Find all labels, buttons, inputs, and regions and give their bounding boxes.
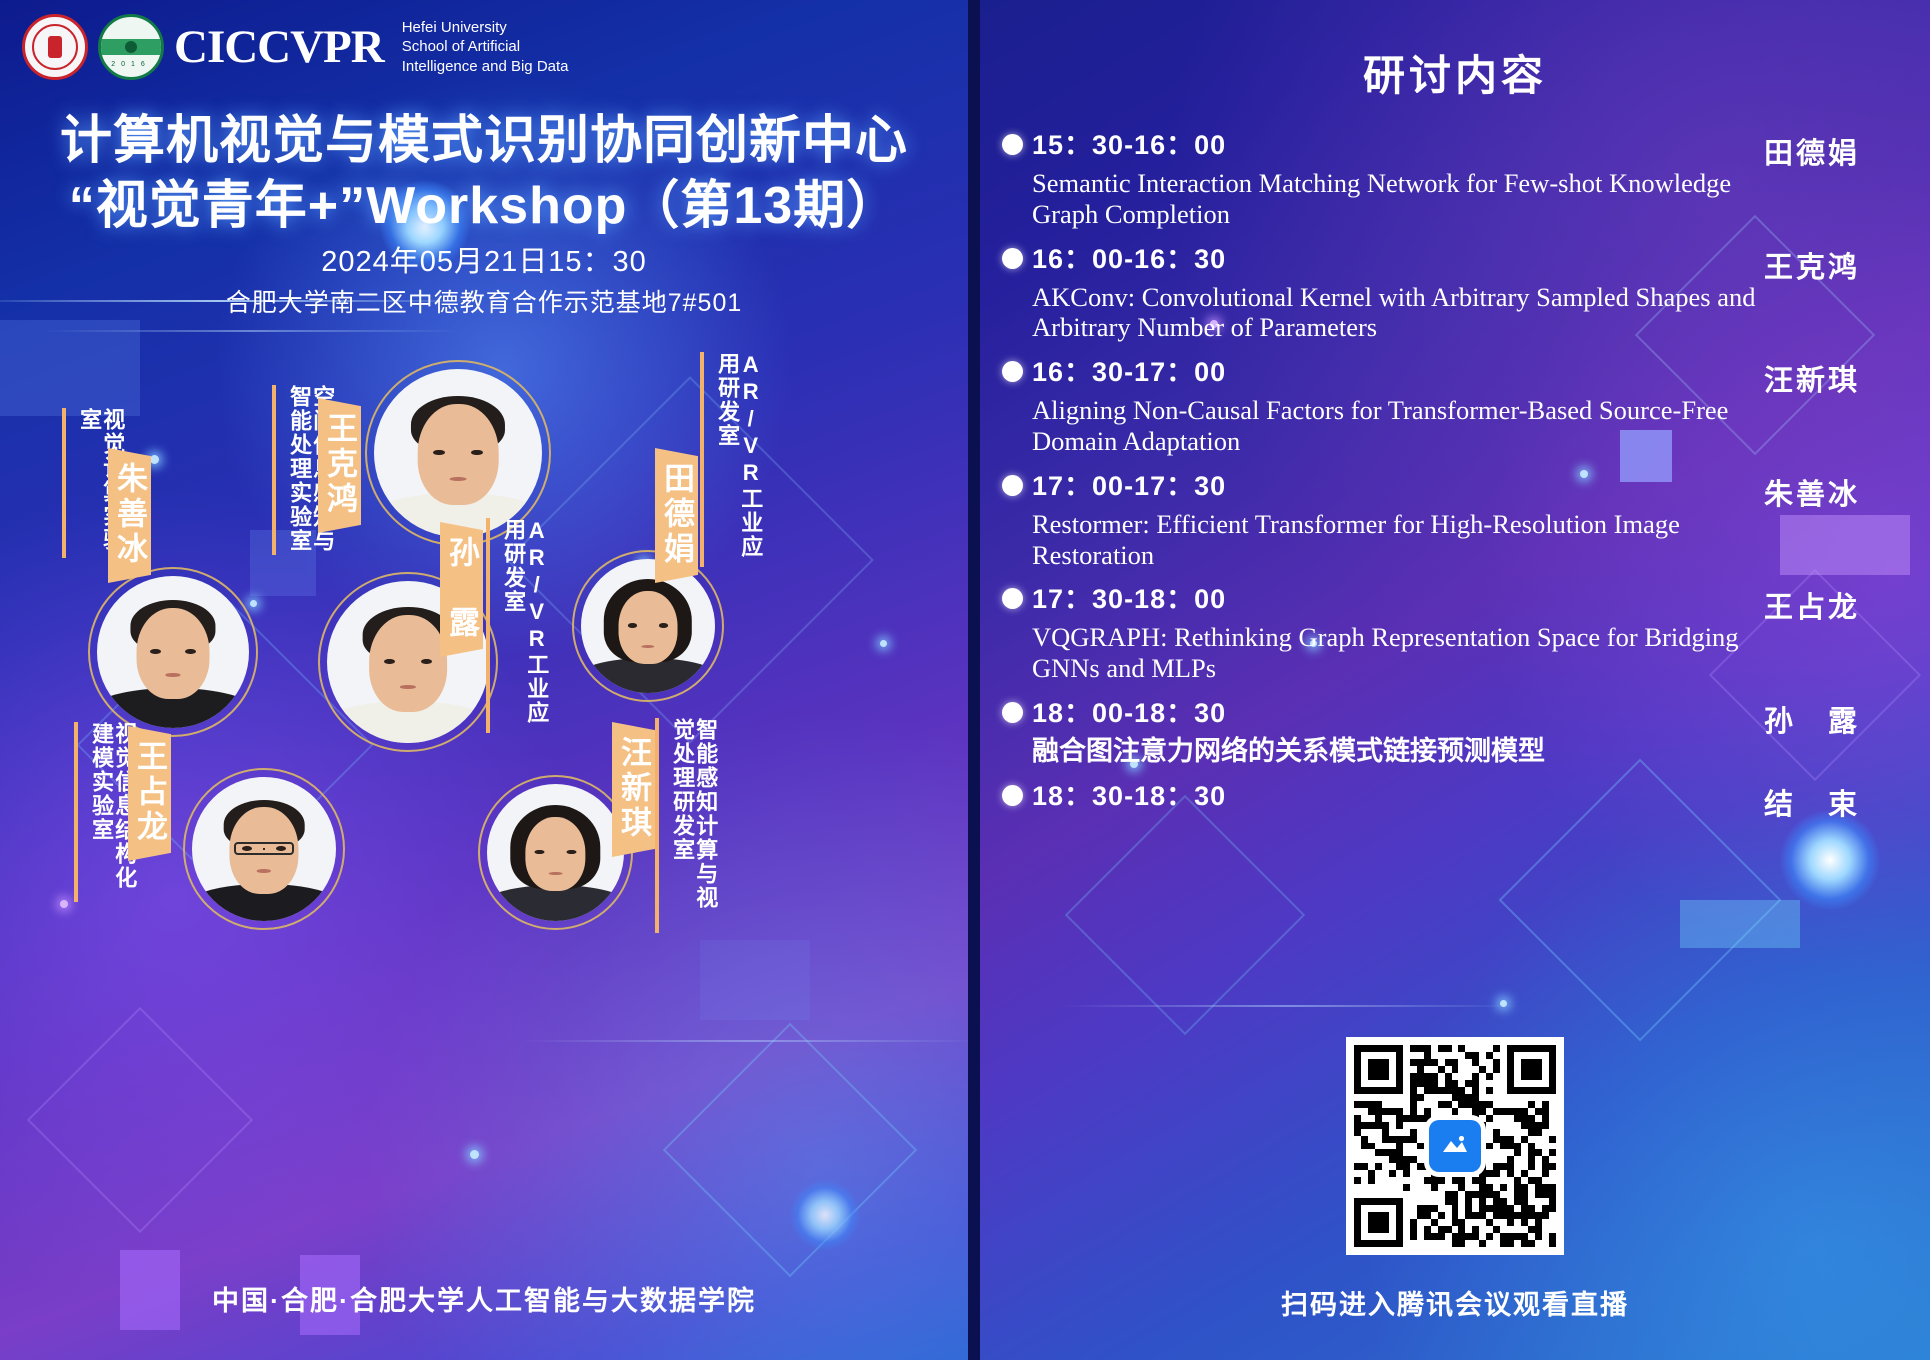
timeline-bullet-icon	[1002, 134, 1023, 155]
deco-block	[1680, 900, 1800, 948]
avatar	[88, 567, 258, 737]
schedule-talk-title: 融合图注意力网络的关系模式链接预测模型	[1032, 736, 1764, 767]
person-card	[183, 768, 345, 930]
schedule-speaker: 王占龙	[1764, 582, 1914, 626]
timeline-bullet-icon	[1002, 588, 1023, 609]
schedule-entry: 16：30-17：00Aligning Non-Causal Factors f…	[1032, 355, 1764, 469]
brand-sub-line1: Hefei University	[402, 18, 569, 37]
schedule-time: 17：30-18：00	[1032, 582, 1764, 617]
schedule-time: 17：00-17：30	[1032, 469, 1764, 504]
schedule-row: 18：00-18：30融合图注意力网络的关系模式链接预测模型孙 露	[996, 696, 1914, 779]
person-name-badge: 王克鸿	[318, 398, 361, 533]
timeline-bullet-icon	[1002, 248, 1023, 269]
hefei-university-seal-icon	[22, 14, 88, 80]
left-panel: 2016 CICCVPR Hefei University School of …	[0, 0, 968, 1360]
deco-dot	[60, 900, 68, 908]
deco-diamond	[27, 1007, 253, 1233]
schedule-speaker: 汪新琪	[1764, 355, 1914, 399]
right-panel: 研讨内容 15：30-16：00Semantic Interaction Mat…	[980, 0, 1930, 1360]
timeline-bullet-icon	[1002, 361, 1023, 382]
person-lab-label: AR/VR工业应用研发室	[700, 352, 762, 567]
brand-sub-line3: Intelligence and Big Data	[402, 57, 569, 76]
schedule-speaker: 王克鸿	[1764, 242, 1914, 286]
brand-header: 2016 CICCVPR Hefei University School of …	[22, 14, 569, 80]
schedule-talk-title: Semantic Interaction Matching Network fo…	[1032, 168, 1764, 229]
person-card	[478, 775, 633, 930]
avatar	[572, 550, 724, 702]
tencent-meeting-icon	[1429, 1120, 1481, 1172]
deco-dot	[880, 640, 887, 647]
qr-caption: 扫码进入腾讯会议观看直播	[980, 1283, 1930, 1322]
schedule-row: 15：30-16：00Semantic Interaction Matching…	[996, 128, 1914, 242]
left-footer: 中国·合肥·合肥大学人工智能与大数据学院	[0, 1279, 968, 1318]
schedule-entry: 18：00-18：30融合图注意力网络的关系模式链接预测模型	[1032, 696, 1764, 779]
brand-acronym: CICCVPR	[174, 24, 384, 71]
schedule-entry: 17：30-18：00VQGRAPH: Rethinking Graph Rep…	[1032, 582, 1764, 696]
timeline-bullet-icon	[1002, 475, 1023, 496]
timeline-bullet-icon	[1002, 785, 1023, 806]
schedule-row: 17：00-17：30Restormer: Efficient Transfor…	[996, 469, 1914, 583]
brand-subtitle: Hefei University School of Artificial In…	[402, 18, 569, 76]
deco-block	[700, 940, 810, 1020]
deco-streak	[40, 330, 460, 332]
schedule-row: 18：30-18：30结 束	[996, 779, 1914, 826]
schedule-speaker: 孙 露	[1764, 696, 1914, 740]
person-name-badge: 孙 露	[440, 522, 483, 657]
person-name-badge: 田德娟	[655, 448, 698, 583]
deco-diamond	[663, 1023, 918, 1278]
schedule-entry: 16：00-16：30AKConv: Convolutional Kernel …	[1032, 242, 1764, 356]
deco-streak	[520, 1040, 968, 1042]
schedule-time: 15：30-16：00	[1032, 128, 1764, 163]
person-lab-label: AR/VR工业应用研发室	[486, 518, 548, 733]
event-address: 合肥大学南二区中德教育合作示范基地7#501	[0, 283, 968, 319]
schedule-heading: 研讨内容	[980, 42, 1930, 103]
poster-title-line1: 计算机视觉与模式识别协同创新中心	[0, 98, 968, 173]
schedule-row: 16：30-17：00Aligning Non-Causal Factors f…	[996, 355, 1914, 469]
person-lab-label: 视觉信息结构化建模实验室	[74, 722, 136, 902]
person-card	[572, 550, 724, 702]
schedule-talk-title: Restormer: Efficient Transformer for Hig…	[1032, 509, 1764, 570]
person-name-badge: 汪新琪	[612, 722, 655, 857]
deco-glow	[790, 1180, 860, 1250]
person-name-badge: 朱善冰	[108, 448, 151, 583]
poster-root: 2016 CICCVPR Hefei University School of …	[0, 0, 1930, 1360]
ciccvpr-seal-icon: 2016	[98, 14, 164, 80]
poster-title-line2: “视觉青年+”Workshop（第13期）	[0, 163, 968, 238]
schedule-speaker: 朱善冰	[1764, 469, 1914, 513]
schedule-speaker: 田德娟	[1764, 128, 1914, 172]
schedule-talk-title: VQGRAPH: Rethinking Graph Representation…	[1032, 622, 1764, 683]
brand-sub-line2: School of Artificial	[402, 37, 569, 56]
schedule-talk-title: AKConv: Convolutional Kernel with Arbitr…	[1032, 282, 1764, 343]
deco-streak	[1060, 1005, 1520, 1007]
person-name-badge: 王占龙	[128, 726, 171, 861]
event-datetime: 2024年05月21日15：30	[0, 238, 968, 280]
deco-dot	[150, 455, 159, 464]
qr-code[interactable]	[1346, 1037, 1564, 1255]
schedule-time: 16：00-16：30	[1032, 242, 1764, 277]
schedule-time: 16：30-17：00	[1032, 355, 1764, 390]
schedule-entry: 15：30-16：00Semantic Interaction Matching…	[1032, 128, 1764, 242]
schedule-speaker: 结 束	[1764, 779, 1914, 823]
seal-year: 2016	[111, 61, 151, 68]
deco-block	[0, 320, 140, 416]
schedule-time: 18：00-18：30	[1032, 696, 1764, 731]
schedule-row: 16：00-16：30AKConv: Convolutional Kernel …	[996, 242, 1914, 356]
person-card	[88, 567, 258, 737]
avatar	[478, 775, 633, 930]
schedule-talk-title: Aligning Non-Causal Factors for Transfor…	[1032, 395, 1764, 456]
schedule-timeline: 15：30-16：00Semantic Interaction Matching…	[996, 128, 1914, 826]
schedule-entry: 17：00-17：30Restormer: Efficient Transfor…	[1032, 469, 1764, 583]
schedule-entry: 18：30-18：30	[1032, 779, 1764, 826]
deco-dot	[470, 1150, 479, 1159]
deco-dot	[1500, 1000, 1507, 1007]
schedule-time: 18：30-18：30	[1032, 779, 1764, 814]
timeline-bullet-icon	[1002, 702, 1023, 723]
deco-diamond	[1065, 795, 1305, 1035]
avatar	[183, 768, 345, 930]
schedule-row: 17：30-18：00VQGRAPH: Rethinking Graph Rep…	[996, 582, 1914, 696]
person-lab-label: 智能感知计算与视觉处理研发室	[655, 718, 717, 933]
